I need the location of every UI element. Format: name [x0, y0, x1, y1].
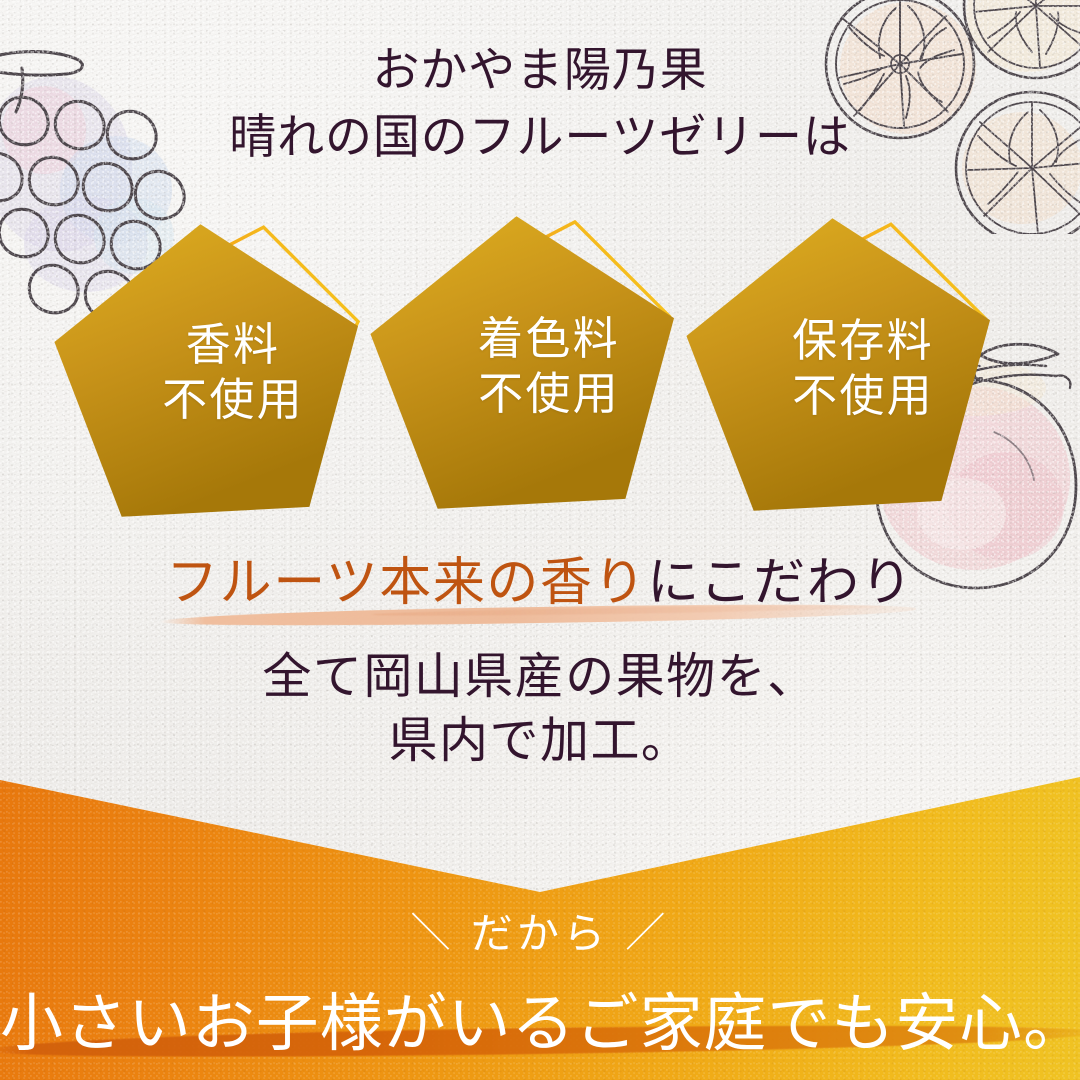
badge-label-0: 香料 不使用: [72, 216, 382, 521]
slash-left-icon: ＼: [394, 913, 470, 953]
accent-line: フルーツ本来の香りにこだわり: [166, 552, 914, 615]
badge-bottom-text-0: 不使用: [162, 373, 304, 428]
feature-badges: 香料 不使用: [0, 208, 1080, 520]
badge-no-fragrance: 香料 不使用: [72, 216, 382, 521]
badge-no-preservative: 保存料 不使用: [706, 212, 1016, 517]
closing-statement: 小さいお子様がいるご家庭でも安心。: [0, 989, 1080, 1058]
sub-line-2: 県内で加工。: [0, 709, 1080, 773]
badge-top-text-2: 保存料: [792, 314, 934, 369]
sub-line-1: 全て岡山県産の果物を、: [0, 645, 1080, 709]
badge-label-1: 着色料 不使用: [392, 210, 702, 515]
heading-line-1: おかやま陽乃果: [0, 38, 1080, 105]
badge-bottom-text-1: 不使用: [478, 367, 620, 422]
slash-right-icon: ／: [609, 913, 685, 953]
accent-highlight-text: フルーツ本来の香り: [166, 553, 647, 613]
heading-line-2: 晴れの国のフルーツゼリーは: [0, 105, 1080, 172]
badge-bottom-text-2: 不使用: [792, 369, 934, 424]
middle-copy: フルーツ本来の香りにこだわり 全て岡山県産の果物を、 県内で加工。: [0, 552, 1080, 773]
badge-label-2: 保存料 不使用: [706, 212, 1016, 517]
poster-heading: おかやま陽乃果 晴れの国のフルーツゼリーは: [0, 38, 1080, 171]
closing-wrap: 小さいお子様がいるご家庭でも安心。: [0, 989, 1080, 1058]
closing-text: 小さいお子様がいるご家庭でも安心。: [0, 987, 1080, 1060]
dakara-row: ＼だから／: [0, 913, 1080, 955]
sub-copy: 全て岡山県産の果物を、 県内で加工。: [0, 645, 1080, 772]
badge-top-text-1: 着色料: [478, 312, 620, 367]
poster-canvas: おかやま陽乃果 晴れの国のフルーツゼリーは: [0, 0, 1080, 1080]
badge-top-text-0: 香料: [186, 318, 281, 373]
badge-no-coloring: 着色料 不使用: [392, 210, 702, 515]
dakara-text: だから: [471, 909, 610, 958]
